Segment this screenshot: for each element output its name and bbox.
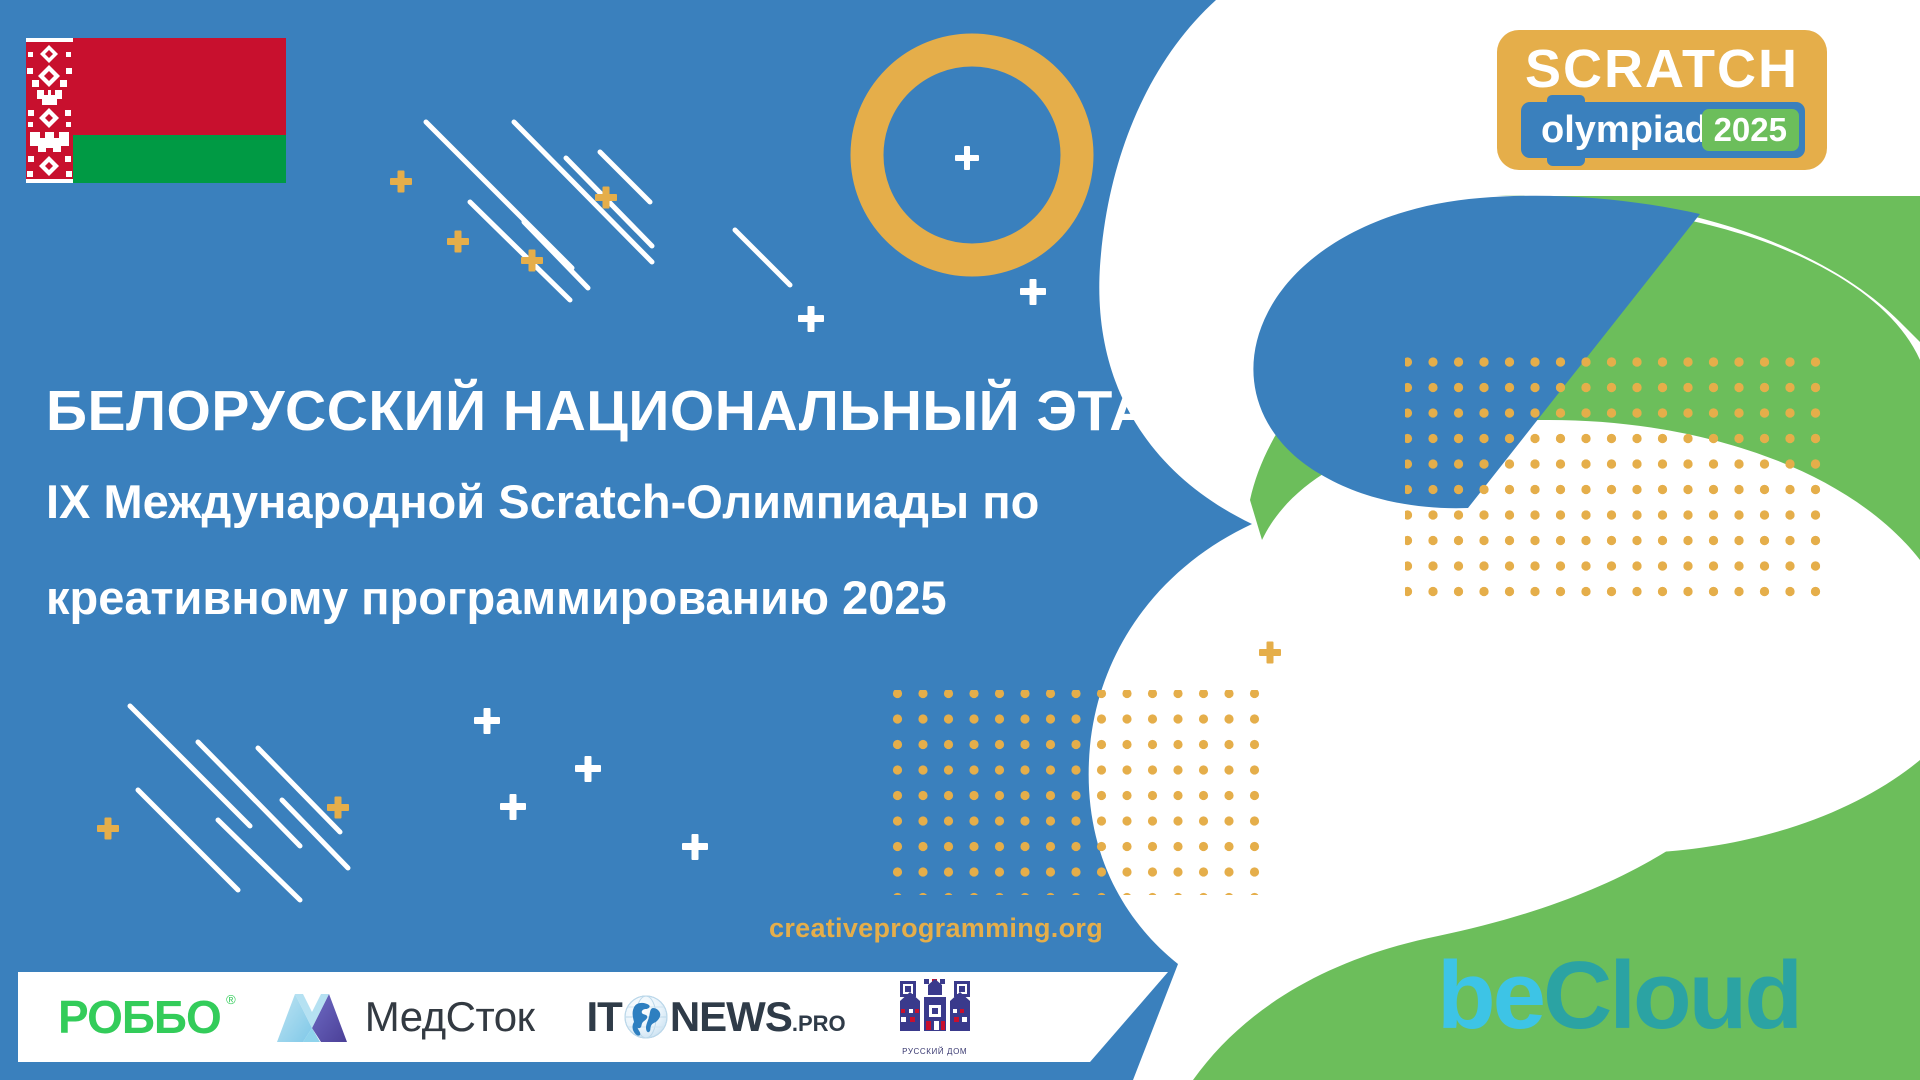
itnews-news-text: NEWS — [670, 993, 792, 1041]
sponsor-logo-row: РОББО® МедСток IT — [18, 972, 972, 1062]
website-url[interactable]: creativeprogramming.org — [769, 913, 1103, 944]
headline-line-2: IX Международной Scratch-Олимпиады по — [46, 472, 1276, 532]
scratch-block-row: olympiad 2025 — [1513, 102, 1811, 158]
russian-house-icon — [898, 979, 972, 1045]
robbo-wordmark: РОББО — [58, 991, 221, 1043]
flag-ornament — [26, 38, 73, 183]
belarus-flag — [26, 38, 286, 183]
headline-line-3: креативному программированию 2025 — [46, 568, 1276, 628]
scratch-olympiad-badge: SCRATCH olympiad 2025 — [1497, 30, 1827, 170]
itnews-it-text: IT — [587, 993, 622, 1041]
sponsor-bar: РОББО® МедСток IT — [18, 972, 1168, 1062]
headline-block: БЕЛОРУССКИЙ НАЦИОНАЛЬНЫЙ ЭТАП IX Междуна… — [46, 380, 1276, 628]
becloud-cloud-text: Cloud — [1543, 942, 1800, 1049]
olympiad-label: olympiad — [1541, 109, 1708, 151]
scratch-block-nub-top — [1547, 95, 1585, 105]
globe-icon — [623, 994, 669, 1040]
itnews-pro-text: .PRO — [792, 1011, 846, 1041]
robbo-registered-mark: ® — [226, 992, 235, 1007]
sponsor-logo-medstok[interactable]: МедСток — [273, 990, 535, 1044]
sponsor-logo-itnews[interactable]: IT NEWS .PRO — [587, 993, 846, 1041]
dot-grid-top-base — [1405, 355, 1825, 610]
badge-year-chip: 2025 — [1702, 109, 1799, 151]
sponsor-logo-robbo[interactable]: РОББО® — [58, 990, 221, 1044]
medstok-wordmark: МедСток — [365, 993, 535, 1041]
dot-grid-mid — [885, 690, 1270, 895]
scratch-block-nub-bottom — [1547, 155, 1585, 166]
scratch-wordmark: SCRATCH — [1513, 40, 1811, 98]
sponsor-logo-russian-house[interactable]: РУССКИЙ ДОМ — [898, 979, 972, 1056]
headline-line-1: БЕЛОРУССКИЙ НАЦИОНАЛЬНЫЙ ЭТАП — [46, 380, 1276, 442]
poster-canvas: SCRATCH olympiad 2025 БЕЛОРУССКИЙ НАЦИОН… — [0, 0, 1920, 1080]
russian-house-label: РУССКИЙ ДОМ — [902, 1047, 967, 1056]
becloud-logo[interactable]: beCloud — [1437, 948, 1800, 1044]
becloud-be-text: be — [1437, 942, 1543, 1049]
badge-year-label: 2025 — [1714, 111, 1787, 149]
medstok-m-icon — [273, 990, 351, 1044]
